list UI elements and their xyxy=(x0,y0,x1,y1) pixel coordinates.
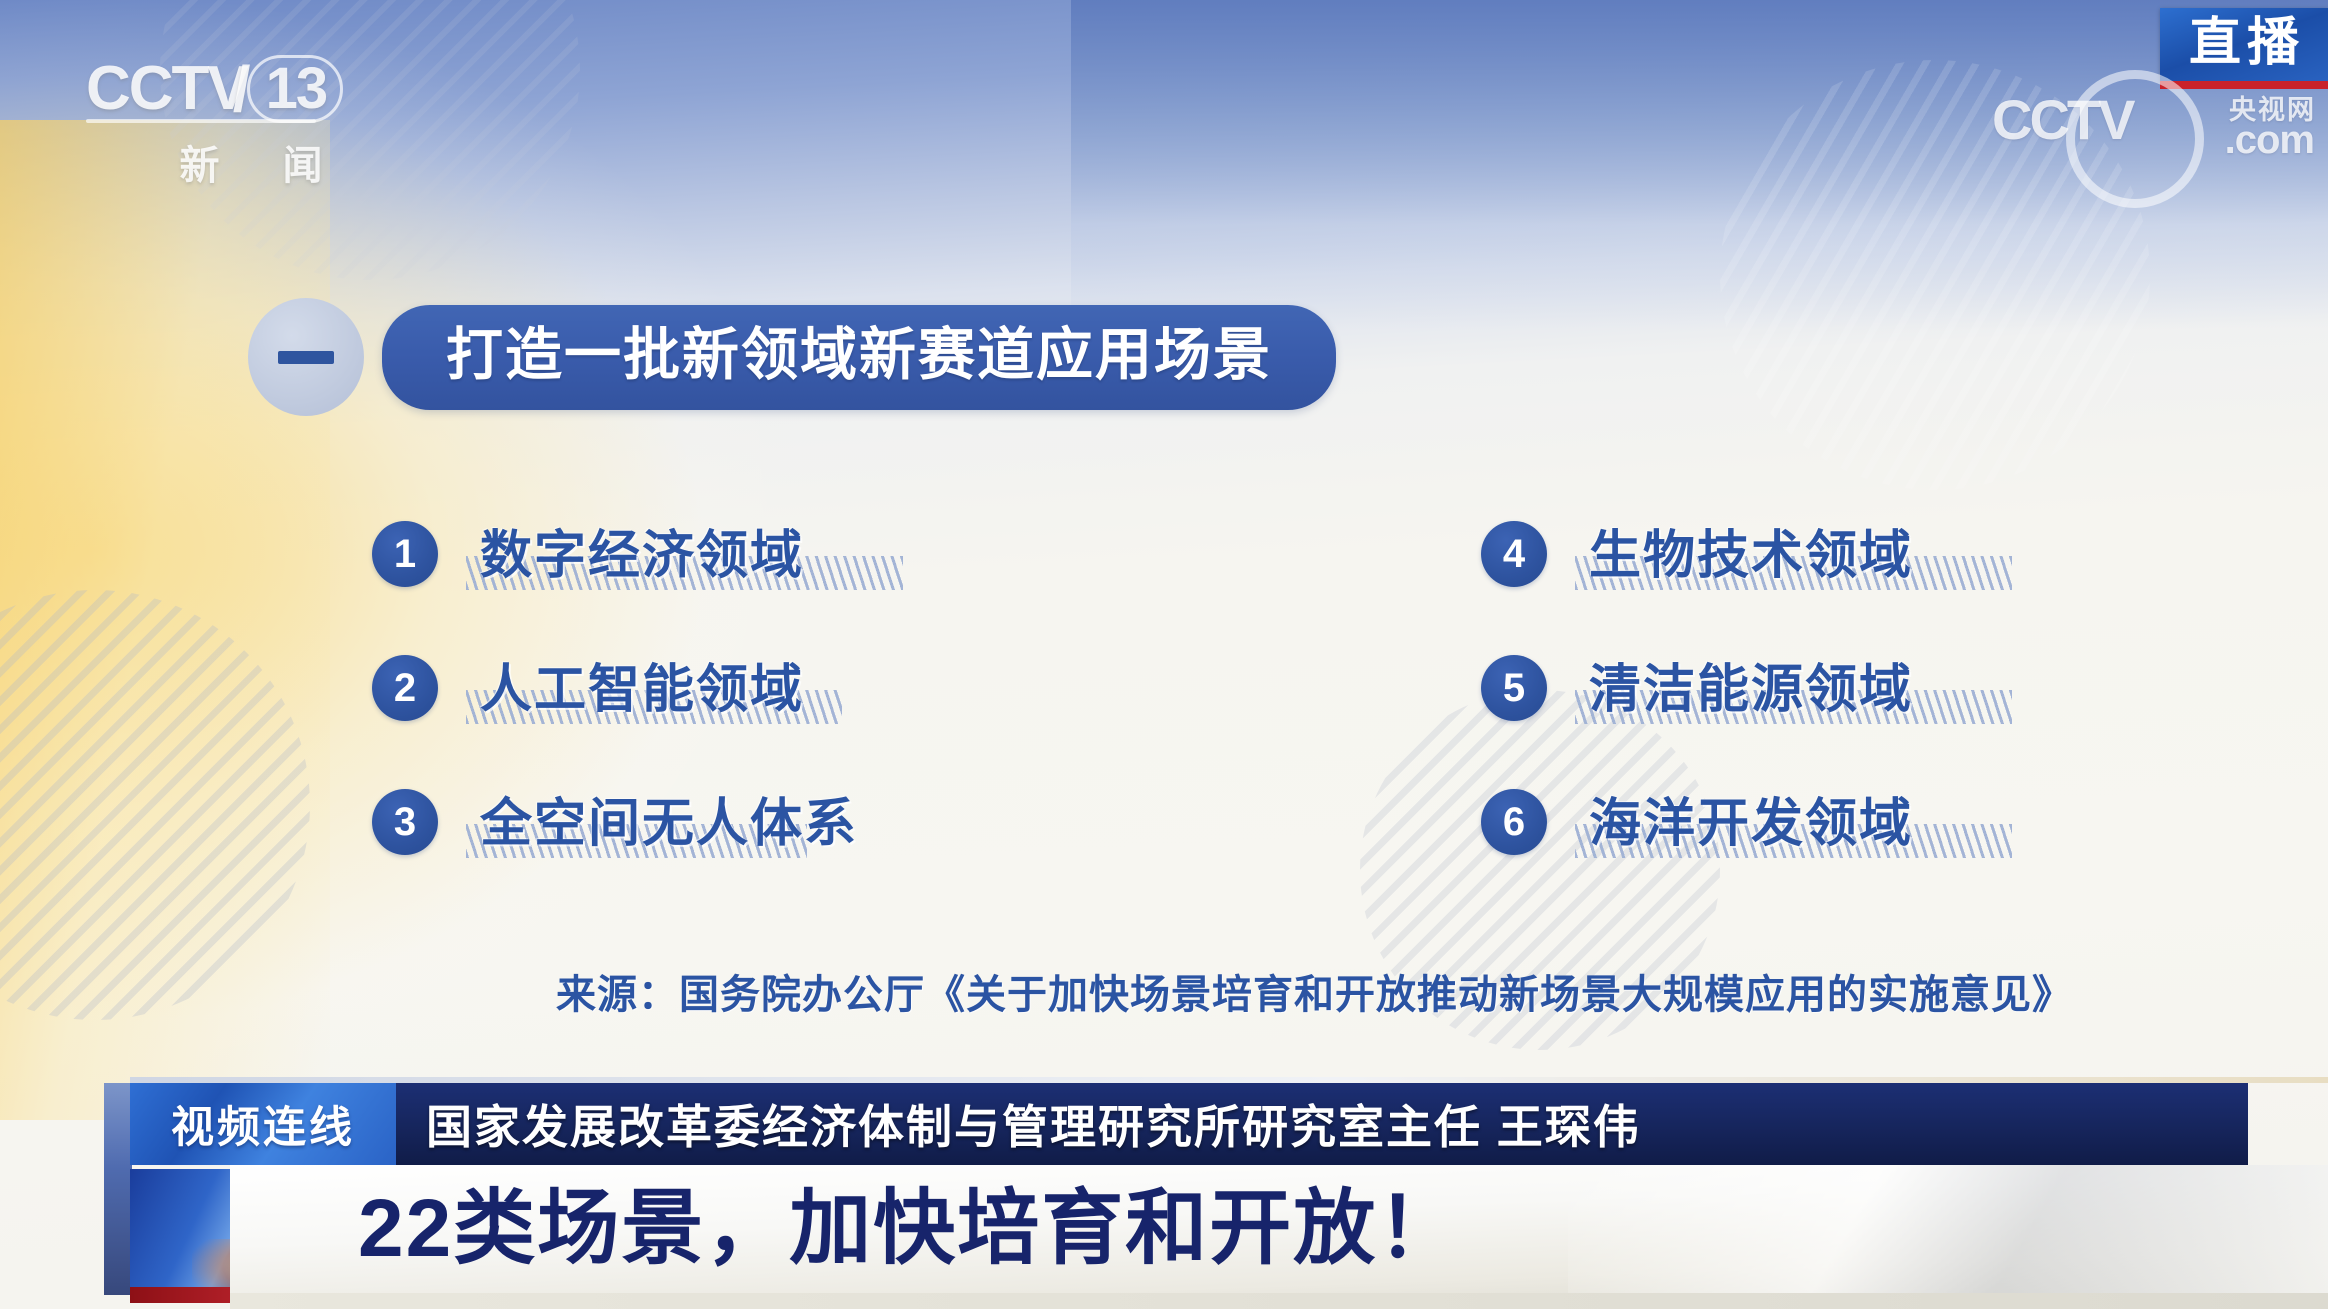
section-number-badge xyxy=(248,298,364,416)
lower-third: 视频连线 国家发展改革委经济体制与管理研究所研究室主任 王琛伟 22类场景，加快… xyxy=(0,1077,2328,1309)
list-item: 4 生物技术领域 xyxy=(1481,512,2012,596)
item-label: 数字经济领域 xyxy=(480,530,804,582)
item-body: 数字经济领域 xyxy=(466,512,903,596)
item-body: 人工智能领域 xyxy=(466,646,903,730)
item-body: 海洋开发领域 xyxy=(1575,780,2012,864)
watermark-ring-icon xyxy=(2066,70,2204,208)
section-title-text: 打造一批新领域新赛道应用场景 xyxy=(446,327,1272,384)
cctv13-channel-logo: CCTV / 13 新 闻 xyxy=(86,55,416,205)
item-label: 人工智能领域 xyxy=(480,664,804,716)
numeral-one-icon xyxy=(278,351,334,364)
item-body: 清洁能源领域 xyxy=(1575,646,2012,730)
cctv-com-watermark: CCTV 央视网 .com xyxy=(1992,92,2322,202)
list-item: 5 清洁能源领域 xyxy=(1481,646,2012,730)
guest-title-text: 国家发展改革委经济体制与管理研究所研究室主任 王琛伟 xyxy=(396,1083,2248,1165)
item-body: 全空间无人体系 xyxy=(466,780,903,864)
cctv-logo-row: CCTV / 13 xyxy=(86,55,416,123)
ticker-strip xyxy=(230,1293,2328,1309)
broadcast-screen: CCTV / 13 新 闻 直播 CCTV 央视网 .com 打造一批新领域新赛… xyxy=(0,0,2328,1309)
section-title-pill: 打造一批新领域新赛道应用场景 xyxy=(382,305,1336,410)
headline-band: 22类场景，加快培育和开放！ xyxy=(230,1165,2328,1293)
item-label: 生物技术领域 xyxy=(1589,530,1913,582)
list-row: 3 全空间无人体系 6 海洋开发领域 xyxy=(372,780,2012,864)
headline-text: 22类场景，加快培育和开放！ xyxy=(230,1188,1461,1270)
item-number-badge: 2 xyxy=(372,655,438,721)
item-number-badge: 5 xyxy=(1481,655,1547,721)
lower-third-left-edge xyxy=(104,1083,132,1295)
list-row: 2 人工智能领域 5 清洁能源领域 xyxy=(372,646,2012,730)
scenario-list: 1 数字经济领域 4 生物技术领域 2 人工智能领域 xyxy=(372,512,2012,914)
list-item: 2 人工智能领域 xyxy=(372,646,903,730)
lower-third-name-band: 视频连线 国家发展改革委经济体制与管理研究所研究室主任 王琛伟 xyxy=(130,1083,2248,1165)
list-item: 1 数字经济领域 xyxy=(372,512,903,596)
item-number-badge: 1 xyxy=(372,521,438,587)
item-label: 海洋开发领域 xyxy=(1589,798,1913,850)
item-label: 全空间无人体系 xyxy=(480,798,858,850)
cctv-channel-number: 13 xyxy=(247,55,344,123)
live-badge-label: 直播 xyxy=(2160,8,2328,81)
list-item: 3 全空间无人体系 xyxy=(372,780,903,864)
item-number-badge: 4 xyxy=(1481,521,1547,587)
section-header: 打造一批新领域新赛道应用场景 xyxy=(248,298,1336,416)
cctv-logo-subtitle: 新 闻 xyxy=(86,133,416,191)
background-left-warm xyxy=(0,120,330,1120)
item-number-badge: 3 xyxy=(372,789,438,855)
list-item: 6 海洋开发领域 xyxy=(1481,780,2012,864)
item-body: 生物技术领域 xyxy=(1575,512,2012,596)
headline-band-sheen xyxy=(1568,1165,2328,1293)
video-link-tag: 视频连线 xyxy=(130,1083,396,1165)
list-row: 1 数字经济领域 4 生物技术领域 xyxy=(372,512,2012,596)
cctv-wordmark: CCTV xyxy=(86,58,247,120)
source-citation: 来源：国务院办公厅《关于加快场景培育和开放推动新场景大规模应用的实施意见》 xyxy=(556,962,2073,1020)
item-label: 清洁能源领域 xyxy=(1589,664,1913,716)
watermark-domain: .com xyxy=(2225,118,2314,163)
item-number-badge: 6 xyxy=(1481,789,1547,855)
live-badge: 直播 xyxy=(2160,8,2328,89)
